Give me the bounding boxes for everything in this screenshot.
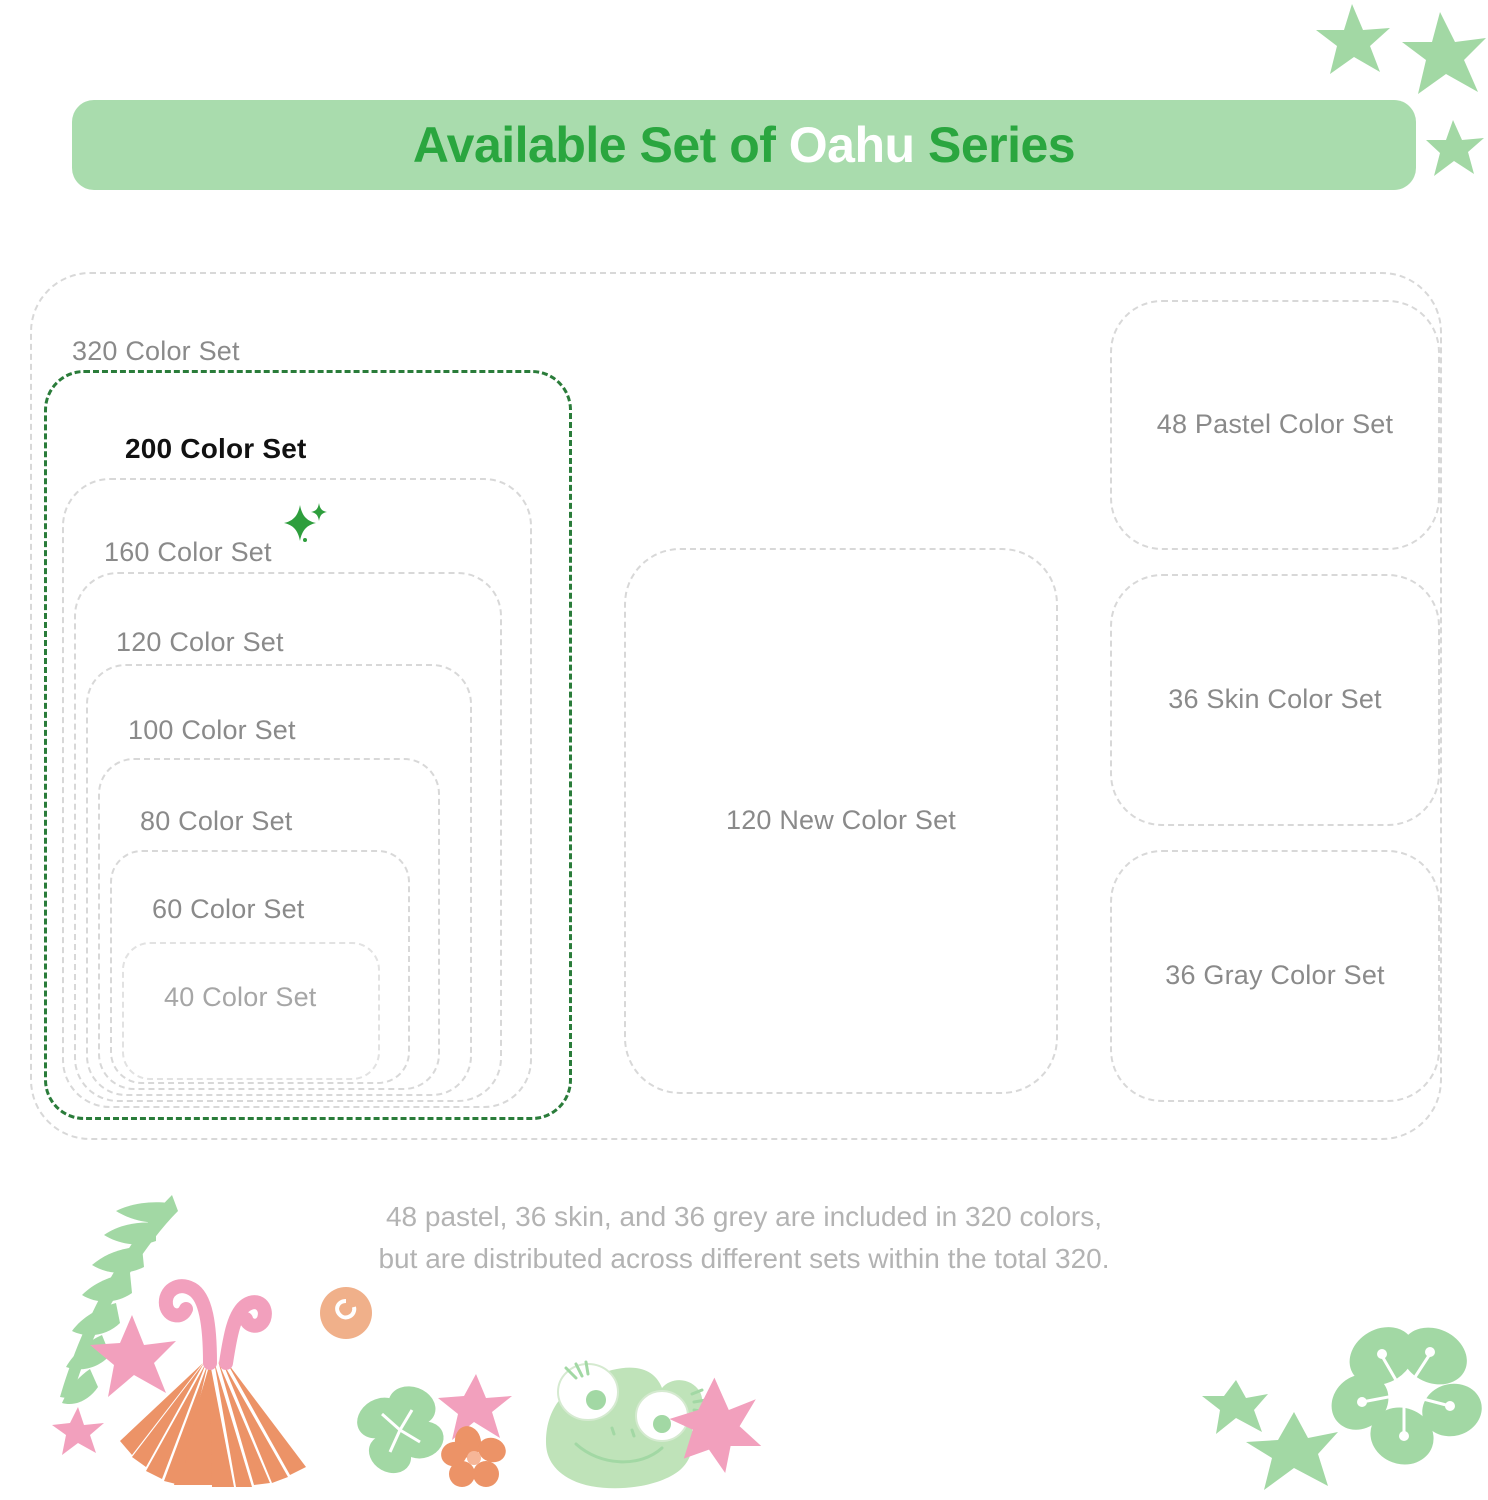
- bottom-center-decoration: [350, 1330, 810, 1500]
- set-box-40[interactable]: 40 Color Set: [122, 942, 380, 1080]
- pink-flower-icon: [669, 1378, 761, 1473]
- green-flower-icon: [350, 1380, 449, 1481]
- smoke-curl-icon: [166, 1286, 265, 1363]
- footer-note-line-1: 48 pastel, 36 skin, and 36 grey are incl…: [0, 1196, 1488, 1238]
- star-icon: [90, 1315, 176, 1397]
- page-title-banner: Available Set of Oahu Series: [72, 100, 1416, 190]
- star-icon: [1316, 4, 1390, 74]
- star-icon: [1202, 1380, 1268, 1434]
- shell-icon: [320, 1287, 372, 1339]
- title-prefix: Available Set of: [413, 117, 789, 173]
- set-label-60: 60 Color Set: [152, 894, 304, 925]
- set-label-120: 120 Color Set: [116, 627, 284, 658]
- set-label-80: 80 Color Set: [140, 806, 292, 837]
- star-icon: [1246, 1412, 1338, 1490]
- set-label-160: 160 Color Set: [104, 537, 272, 568]
- set-box-36-gray[interactable]: 36 Gray Color Set: [1110, 850, 1440, 1102]
- footer-note: 48 pastel, 36 skin, and 36 grey are incl…: [0, 1196, 1488, 1280]
- set-label-200: 200 Color Set: [125, 433, 307, 465]
- set-box-36-skin[interactable]: 36 Skin Color Set: [1110, 574, 1440, 826]
- hibiscus-icon: [1320, 1316, 1487, 1474]
- title-highlight: Oahu: [789, 117, 915, 173]
- bottom-right-decoration: [1190, 1300, 1488, 1500]
- set-label-320: 320 Color Set: [72, 336, 240, 367]
- set-box-120-new[interactable]: 120 New Color Set: [624, 548, 1058, 1094]
- footer-note-line-2: but are distributed across different set…: [0, 1238, 1488, 1280]
- set-box-48-pastel[interactable]: 48 Pastel Color Set: [1110, 300, 1440, 550]
- set-label-36-skin: 36 Skin Color Set: [1112, 684, 1438, 715]
- star-icon: [52, 1407, 104, 1455]
- star-icon: [438, 1374, 512, 1440]
- page-title: Available Set of Oahu Series: [413, 116, 1075, 174]
- gecko-face-icon: [546, 1362, 706, 1488]
- color-set-diagram: 320 Color Set 200 Color Set 160 Color Se…: [0, 250, 1488, 1150]
- orange-flower-icon: [438, 1424, 510, 1487]
- title-suffix: Series: [915, 117, 1076, 173]
- star-icon: [1426, 120, 1484, 176]
- volcano-fan-icon: [120, 1361, 306, 1487]
- set-label-100: 100 Color Set: [128, 715, 296, 746]
- set-label-40: 40 Color Set: [164, 982, 316, 1013]
- set-label-48-pastel: 48 Pastel Color Set: [1112, 409, 1438, 440]
- set-label-36-gray: 36 Gray Color Set: [1112, 960, 1438, 991]
- set-label-120-new: 120 New Color Set: [626, 805, 1056, 836]
- star-icon: [1402, 12, 1486, 94]
